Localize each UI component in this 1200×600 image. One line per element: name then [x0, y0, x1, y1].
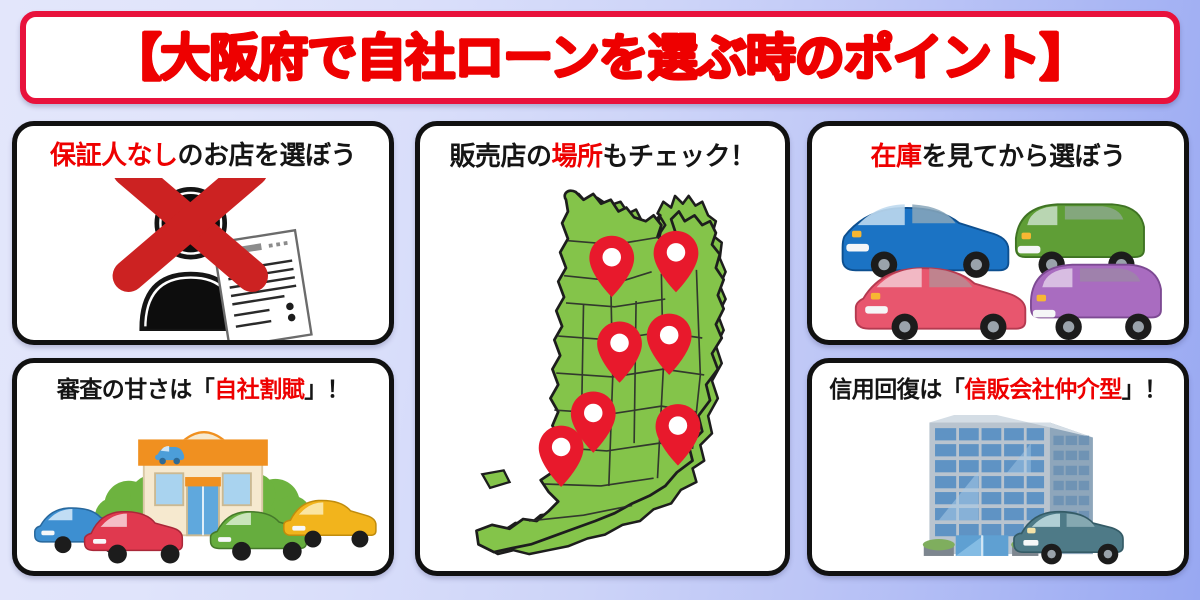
card-stock-title-plain: を見てから選ぼう: [922, 141, 1126, 171]
card-location-title-plain-2: もチェック！: [603, 141, 756, 171]
title-banner: 【大阪府で自社ローンを選ぶ時のポイント】: [20, 11, 1180, 104]
page-title: 【大阪府で自社ローンを選ぶ時のポイント】: [111, 33, 1089, 83]
card-location-title-highlight: 場所: [551, 141, 602, 171]
card-screening-title-plain-1: 審査の甘さは「: [57, 376, 215, 402]
card-location-title: 販売店の場所もチェック！: [420, 143, 785, 169]
person-crossed-out-with-document-icon: [17, 178, 389, 340]
osaka-prefecture-map-with-pins-icon: [420, 178, 785, 571]
card-location[interactable]: 販売店の場所もチェック！: [415, 121, 790, 576]
card-stock-title: 在庫を見てから選ぼう: [812, 143, 1184, 169]
card-no-guarantor[interactable]: 保証人なしのお店を選ぼう: [12, 121, 394, 345]
card-screening[interactable]: 審査の甘さは「自社割賦」！: [12, 358, 394, 576]
office-building-with-car-icon: [812, 415, 1184, 571]
card-credit-title: 信用回復は「信販会社仲介型」！: [812, 378, 1184, 401]
card-no-guarantor-title-plain: のお店を選ぼう: [178, 140, 357, 170]
card-credit-title-highlight: 信販会社仲介型: [964, 376, 1122, 402]
card-no-guarantor-title-highlight: 保証人なし: [50, 140, 178, 170]
card-stock[interactable]: 在庫を見てから選ぼう: [807, 121, 1189, 345]
card-screening-title-plain-2: 」！: [304, 376, 349, 402]
card-credit-title-plain-2: 」！: [1122, 376, 1167, 402]
car-dealership-shop-with-cars-icon: [17, 415, 389, 571]
card-screening-title: 審査の甘さは「自社割賦」！: [17, 378, 389, 401]
card-location-title-plain-1: 販売店の: [449, 141, 551, 171]
card-credit[interactable]: 信用回復は「信販会社仲介型」！: [807, 358, 1189, 576]
card-stock-title-highlight: 在庫: [870, 141, 921, 171]
card-credit-title-plain-1: 信用回復は「: [829, 376, 964, 402]
four-used-cars-icon: [812, 178, 1184, 340]
infographic-canvas: 【大阪府で自社ローンを選ぶ時のポイント】 保証人なしのお店を選ぼう: [0, 0, 1200, 600]
card-no-guarantor-title: 保証人なしのお店を選ぼう: [17, 142, 389, 168]
card-screening-title-highlight: 自社割賦: [214, 376, 304, 402]
